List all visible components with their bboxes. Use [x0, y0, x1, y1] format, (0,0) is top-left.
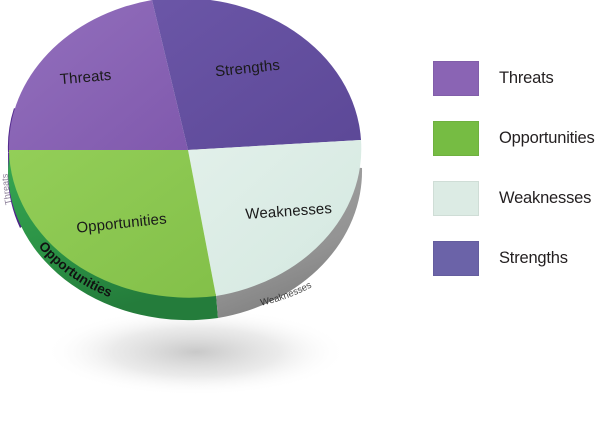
legend-item-weaknesses[interactable]: Weaknesses: [433, 168, 600, 228]
pie-chart-svg: Threats Strengths Opportunities Weakness…: [0, 0, 410, 421]
legend-label-opportunities: Opportunities: [499, 129, 595, 148]
pie-chart-figure: Threats Strengths Opportunities Weakness…: [0, 0, 410, 421]
legend-label-weaknesses: Weaknesses: [499, 189, 591, 208]
swot-pie-chart-page: Threats Strengths Opportunities Weakness…: [0, 0, 600, 421]
pie-drop-shadow: [44, 308, 348, 396]
legend-swatch-threats: [433, 61, 479, 96]
legend-item-threats[interactable]: Threats: [433, 48, 600, 108]
legend-item-strengths[interactable]: Strengths: [433, 228, 600, 288]
legend-swatch-weaknesses: [433, 181, 479, 216]
legend-swatch-opportunities: [433, 121, 479, 156]
legend-label-threats: Threats: [499, 69, 554, 88]
pie-top-face: [9, 0, 361, 298]
chart-legend: Threats Opportunities Weaknesses Strengt…: [433, 48, 600, 288]
legend-swatch-strengths: [433, 241, 479, 276]
legend-label-strengths: Strengths: [499, 249, 568, 268]
legend-item-opportunities[interactable]: Opportunities: [433, 108, 600, 168]
